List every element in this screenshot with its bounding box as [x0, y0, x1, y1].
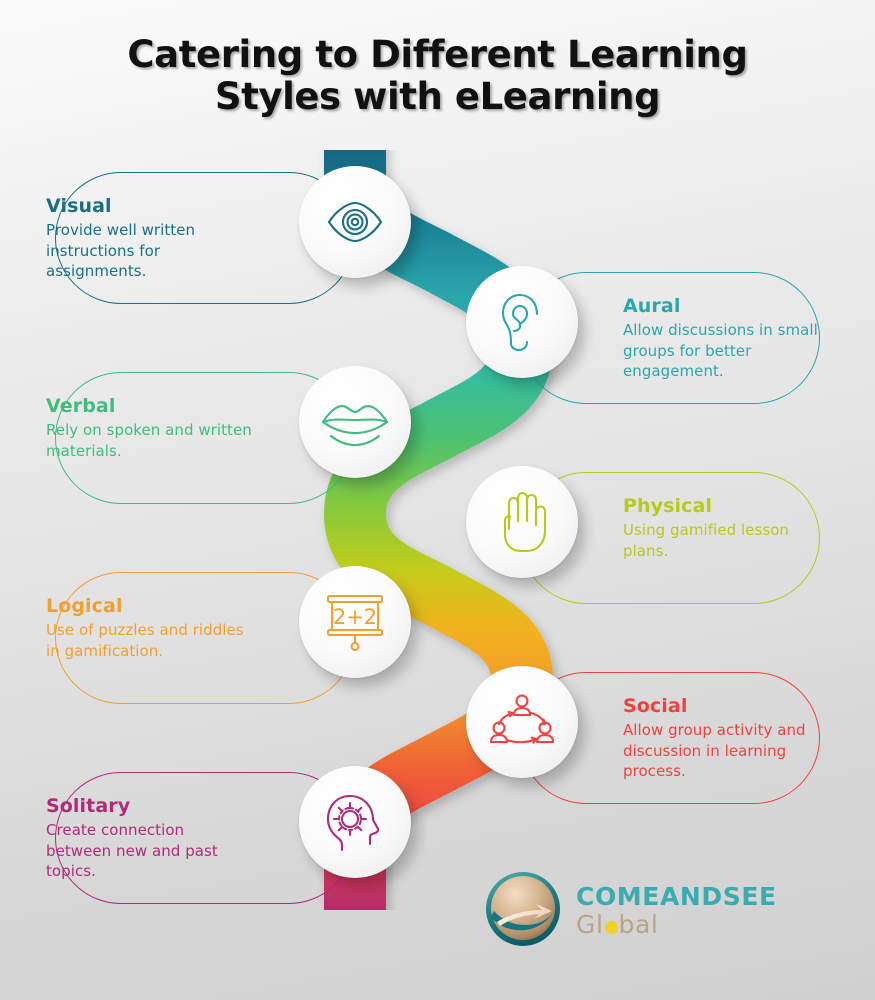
- style-text-visual: VisualProvide well written instructions …: [46, 194, 252, 282]
- page-title-line-1: Catering to Different Learning: [127, 33, 747, 76]
- style-description: Allow discussions in small groups for be…: [623, 320, 829, 382]
- style-text-social: SocialAllow group activity and discussio…: [623, 694, 829, 782]
- style-text-logical: LogicalUse of puzzles and riddles in gam…: [46, 594, 252, 661]
- style-text-solitary: SolitaryCreate connection between new an…: [46, 794, 252, 882]
- style-text-aural: AuralAllow discussions in small groups f…: [623, 294, 829, 382]
- learning-style-row-visual[interactable]: VisualProvide well written instructions …: [0, 172, 875, 304]
- svg-text:2+2: 2+2: [333, 605, 377, 629]
- style-description: Using gamified lesson plans.: [623, 520, 829, 561]
- style-text-verbal: VerbalRely on spoken and written materia…: [46, 394, 252, 461]
- style-description: Allow group activity and discussion in l…: [623, 720, 829, 782]
- style-description: Provide well written instructions for as…: [46, 220, 252, 282]
- logo-word-secondary-before: Gl: [576, 910, 604, 939]
- style-description: Rely on spoken and written materials.: [46, 420, 252, 461]
- eye-icon: [324, 191, 386, 253]
- lips-icon: [320, 398, 390, 446]
- style-description: Use of puzzles and riddles in gamificati…: [46, 620, 252, 661]
- logo-word-secondary-after: bal: [619, 910, 659, 939]
- page-title: Catering to Different Learning Styles wi…: [0, 34, 875, 118]
- logo-dot-icon: [605, 921, 618, 934]
- style-heading: Visual: [46, 194, 252, 218]
- page-title-line-2: Styles with eLearning: [0, 76, 875, 118]
- style-description: Create connection between new and past t…: [46, 820, 252, 882]
- style-node-visual[interactable]: [299, 166, 411, 278]
- style-text-physical: PhysicalUsing gamified lesson plans.: [623, 494, 829, 561]
- logo-word-secondary: Glbal: [576, 910, 658, 939]
